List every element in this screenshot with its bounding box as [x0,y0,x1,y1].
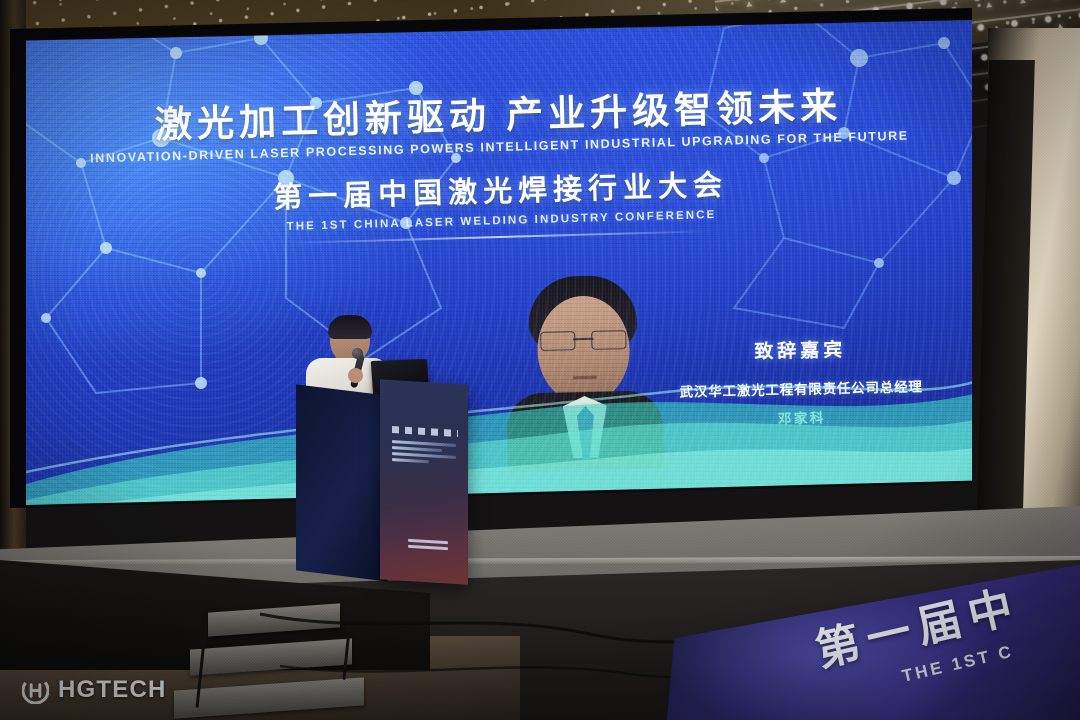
led-screen-frame: 激光加工创新驱动 产业升级智领未来 INNOVATION-DRIVEN LASE… [10,8,972,508]
podium-title-artwork [392,440,456,486]
podium-bottom-mark [408,539,448,555]
conference-photo-scene: 激光加工创新驱动 产业升级智领未来 INNOVATION-DRIVEN LASE… [0,0,1080,720]
person-hand [348,368,363,383]
microphone-head [352,348,363,359]
hgtech-watermark: HGTECH [22,676,167,704]
podium [296,384,468,589]
led-screen: 激光加工创新驱动 产业升级智领未来 INNOVATION-DRIVEN LASE… [26,18,974,508]
person-hair [328,315,372,339]
hgtech-brand-text: HGTECH [58,676,167,704]
hgtech-logo-icon [22,677,49,704]
screen-scanlines [26,18,974,508]
podium-side-panel [296,384,388,581]
